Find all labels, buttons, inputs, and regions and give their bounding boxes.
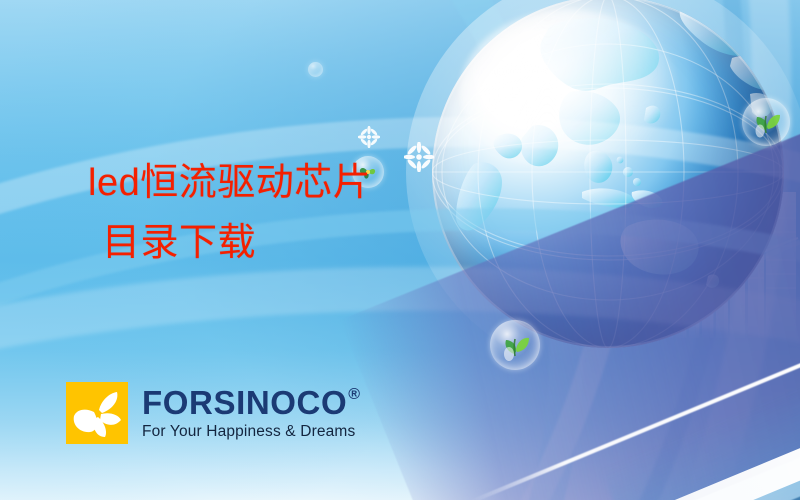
leaf-sprout-icon	[756, 115, 781, 138]
dark-blue-band	[560, 359, 800, 500]
logo-mark	[66, 382, 128, 444]
logo-text: FORSINOCO® For Your Happiness & Dreams	[142, 386, 361, 441]
pinwheel-flower-icon	[74, 392, 121, 437]
bubble-icon-leaf-large	[490, 320, 540, 370]
bubble-icon-small-left	[308, 62, 323, 77]
registered-trademark-icon: ®	[348, 387, 360, 403]
logo-name: FORSINOCO®	[142, 386, 361, 419]
headline-line-2: 目录下载	[88, 224, 508, 262]
sparkle-icon-1	[358, 126, 380, 153]
company-logo: FORSINOCO® For Your Happiness & Dreams	[66, 382, 361, 444]
headline-line-1: led恒流驱动芯片	[88, 164, 508, 202]
leaf-sprout-icon	[504, 338, 529, 361]
bubble-icon-leaf-right	[742, 98, 790, 146]
logo-tagline: For Your Happiness & Dreams	[142, 423, 361, 441]
promo-banner: led恒流驱动芯片 目录下载 FORSINOCO®	[0, 0, 800, 500]
logo-name-text: FORSINOCO	[142, 386, 347, 419]
headline: led恒流驱动芯片 目录下载	[88, 164, 508, 262]
